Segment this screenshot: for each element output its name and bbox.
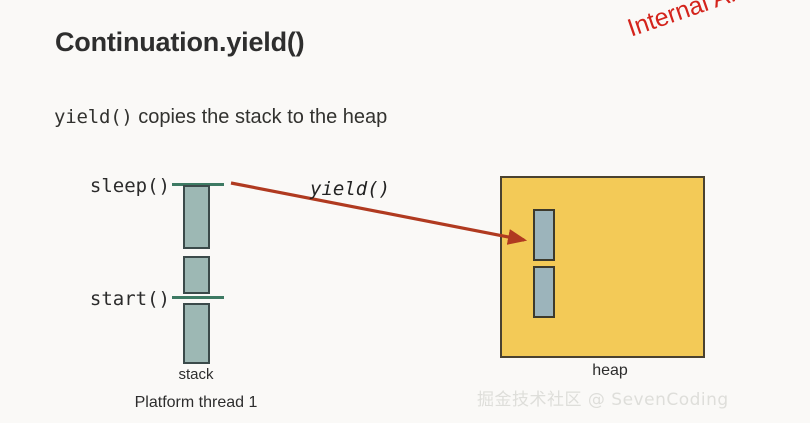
stack-label-start: start() (20, 288, 170, 310)
subtitle-code: yield() (54, 106, 133, 128)
heap-caption: heap (530, 362, 690, 380)
heap-box (500, 176, 705, 358)
slide-canvas: Continuation.yield() yield() copies the … (0, 0, 810, 423)
stack-frame-block (183, 256, 210, 294)
internal-api-stamp: Internal API (624, 0, 756, 43)
stack-label-sleep: sleep() (20, 175, 170, 197)
heap-frame-block (533, 209, 555, 261)
stack-frame-block (183, 303, 210, 364)
page-title: Continuation.yield() (55, 27, 304, 58)
watermark: 掘金技术社区 @ SevenCoding (477, 385, 729, 410)
stack-caption: stack (126, 366, 266, 383)
subtitle-text: copies the stack to the heap (133, 106, 388, 128)
thread-divider-bottom (172, 296, 224, 299)
yield-arrow-label: yield() (310, 178, 390, 200)
subtitle: yield() copies the stack to the heap (54, 106, 387, 129)
heap-frame-block (533, 266, 555, 318)
stack-frame-block (183, 185, 210, 249)
platform-thread-caption: Platform thread 1 (96, 394, 296, 412)
